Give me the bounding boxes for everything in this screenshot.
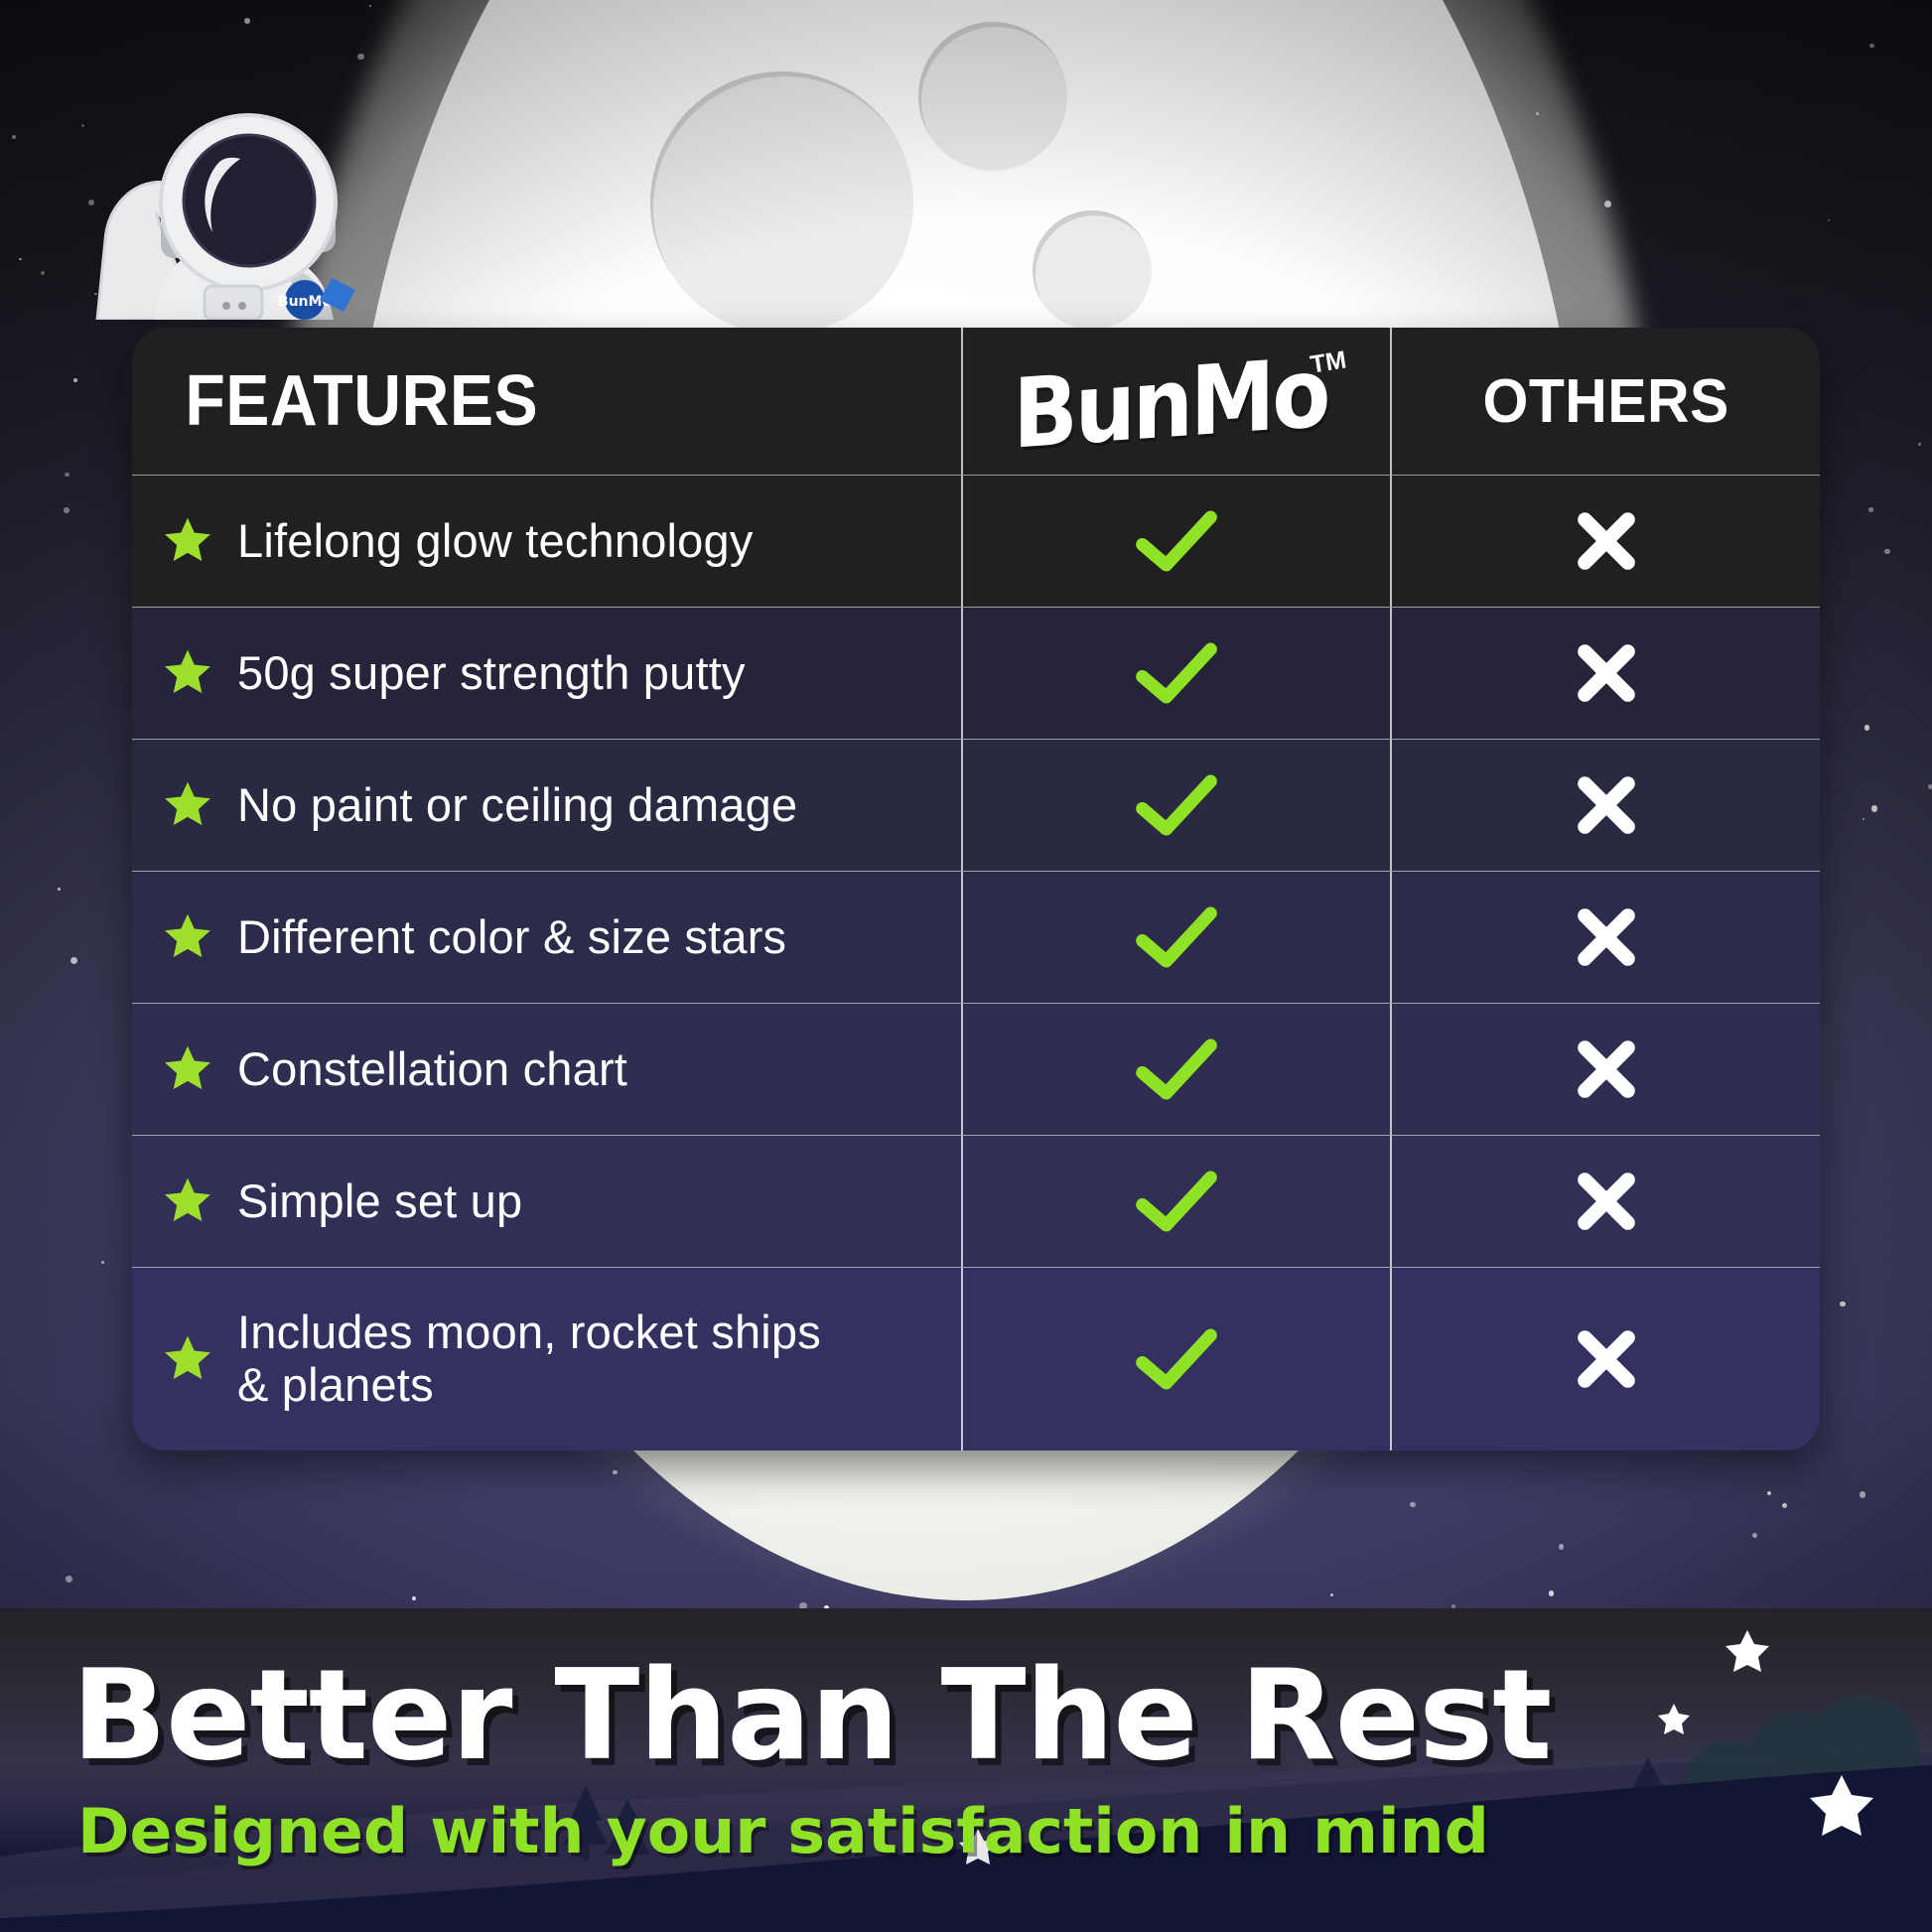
features-column-title: FEATURES: [132, 360, 538, 442]
feature-label: Different color & size stars: [237, 911, 786, 964]
row-feature-cell: Constellation chart: [132, 1004, 961, 1135]
check-icon: [1134, 1324, 1219, 1394]
row-bunmo-cell: [961, 740, 1391, 871]
table-row: Simple set up: [132, 1135, 1820, 1267]
bottom-banner: Better Than The Rest Designed with your …: [0, 1608, 1932, 1932]
row-others-cell: [1390, 872, 1820, 1003]
feature-label: Includes moon, rocket ships& planets: [237, 1307, 821, 1411]
row-feature-cell: Lifelong glow technology: [132, 476, 961, 607]
row-feature-cell: Includes moon, rocket ships& planets: [132, 1268, 961, 1450]
star-icon: [162, 779, 213, 831]
check-icon: [1134, 638, 1219, 708]
check-icon: [1134, 506, 1219, 576]
row-bunmo-cell: [961, 1136, 1391, 1267]
cross-icon: [1571, 769, 1642, 841]
table-row: Constellation chart: [132, 1003, 1820, 1135]
row-bunmo-cell: [961, 476, 1391, 607]
banner-subheadline: Designed with your satisfaction in mind: [77, 1795, 1489, 1867]
table-row: 50g super strength putty: [132, 607, 1820, 739]
table-header-row: FEATURES BunMo TM OTHERS: [132, 328, 1820, 475]
feature-label: No paint or ceiling damage: [237, 779, 797, 832]
row-others-cell: [1390, 1268, 1820, 1450]
banner-headline: Better Than The Rest: [71, 1642, 1551, 1788]
row-others-cell: [1390, 608, 1820, 739]
table-row: Lifelong glow technology: [132, 475, 1820, 607]
feature-label: 50g super strength putty: [237, 647, 746, 700]
table-row: Includes moon, rocket ships& planets: [132, 1267, 1820, 1450]
header-cell-bunmo: BunMo TM: [961, 328, 1391, 475]
row-feature-cell: Simple set up: [132, 1136, 961, 1267]
cross-icon: [1571, 901, 1642, 973]
table-row: No paint or ceiling damage: [132, 739, 1820, 871]
header-cell-others: OTHERS: [1390, 328, 1820, 475]
row-feature-cell: 50g super strength putty: [132, 608, 961, 739]
cross-icon: [1571, 1034, 1642, 1105]
check-icon: [1134, 1167, 1219, 1236]
cross-icon: [1571, 1323, 1642, 1395]
feature-label: Simple set up: [237, 1175, 522, 1228]
row-bunmo-cell: [961, 608, 1391, 739]
star-icon: [162, 515, 213, 567]
star-icon: [162, 647, 213, 699]
row-feature-cell: Different color & size stars: [132, 872, 961, 1003]
star-icon: [162, 1333, 213, 1385]
row-feature-cell: No paint or ceiling damage: [132, 740, 961, 871]
comparison-table: FEATURES BunMo TM OTHERS Lifelong glow t…: [132, 328, 1820, 1450]
cross-icon: [1571, 637, 1642, 709]
check-icon: [1134, 1035, 1219, 1104]
table-row: Different color & size stars: [132, 871, 1820, 1003]
star-icon: [162, 1175, 213, 1227]
star-icon: [162, 1043, 213, 1095]
table-body: Lifelong glow technology50g super streng…: [132, 475, 1820, 1450]
check-icon: [1134, 902, 1219, 972]
cross-icon: [1571, 505, 1642, 577]
bunmo-wordmark: BunMo: [1013, 338, 1327, 471]
astronaut-illustration: BunMo: [58, 91, 385, 320]
check-icon: [1134, 770, 1219, 840]
bunmo-logo: BunMo TM: [1013, 346, 1340, 456]
cross-icon: [1571, 1166, 1642, 1237]
header-cell-features: FEATURES: [132, 328, 961, 475]
row-others-cell: [1390, 740, 1820, 871]
row-bunmo-cell: [961, 872, 1391, 1003]
row-bunmo-cell: [961, 1004, 1391, 1135]
feature-label: Constellation chart: [237, 1043, 627, 1096]
row-others-cell: [1390, 1004, 1820, 1135]
feature-label: Lifelong glow technology: [237, 515, 754, 568]
star-icon: [162, 911, 213, 963]
trademark-symbol: TM: [1309, 345, 1348, 379]
row-others-cell: [1390, 476, 1820, 607]
row-bunmo-cell: [961, 1268, 1391, 1450]
poster-canvas: BunMo FEATURES BunMo TM OTHERS Lifelong …: [0, 0, 1932, 1932]
others-column-title: OTHERS: [1483, 366, 1729, 437]
row-others-cell: [1390, 1136, 1820, 1267]
